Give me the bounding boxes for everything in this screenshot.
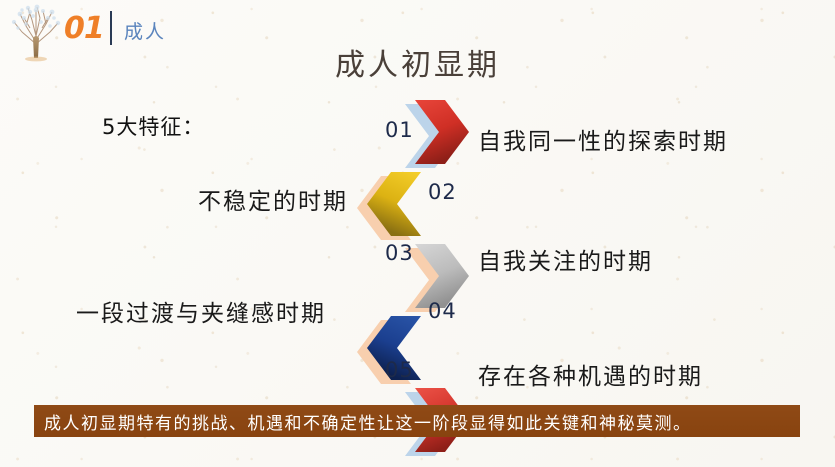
step-description-1: 自我同一性的探索时期 [478,122,728,156]
step-description-4: 一段过渡与夹缝感时期 [76,294,326,328]
step-number-1: 01 [385,118,414,142]
step-number-4: 04 [428,299,457,323]
footer-banner: 成人初显期特有的挑战、机遇和不确定性让这一阶段显得如此关键和神秘莫测。 [34,405,800,437]
page-title: 成人初显期 [0,40,835,84]
step-description-5: 存在各种机遇的时期 [478,357,703,391]
slide-canvas: 01 成人 成人初显期 5大特征： [0,0,835,467]
step-description-3: 自我关注的时期 [478,242,653,276]
step-number-5: 05 [385,358,414,382]
footer-banner-text: 成人初显期特有的挑战、机遇和不确定性让这一阶段显得如此关键和神秘莫测。 [44,409,692,434]
step-number-2: 02 [428,180,457,204]
step-description-2: 不稳定的时期 [198,182,348,216]
features-count-label: 5大特征： [102,111,204,141]
step-number-3: 03 [385,241,414,265]
